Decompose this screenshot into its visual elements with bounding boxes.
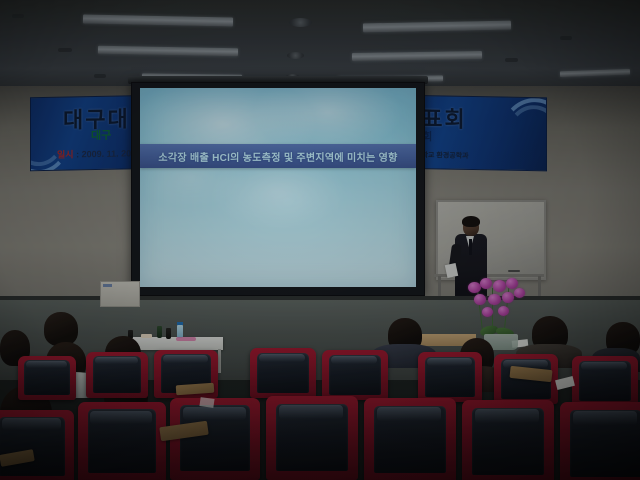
projection-screen-frame: 소각장 배출 HCl의 농도측정 및 주변지역에 미치는 영향 [131, 82, 425, 296]
ceiling-light-fixture [352, 51, 482, 61]
banner-date-colon: : [74, 149, 82, 159]
auditorium-seat [170, 398, 260, 480]
orchid-flower [506, 278, 518, 289]
auditorium-seat [78, 402, 166, 480]
seat-highlight [95, 357, 138, 364]
projection-screen-surface: 소각장 배출 HCl의 농도측정 및 주변지역에 미치는 영향 [140, 88, 416, 287]
radiator-badge [103, 284, 112, 287]
seat-highlight [475, 409, 539, 422]
ceiling-speaker-icon [560, 36, 572, 40]
seat-highlight [331, 356, 377, 364]
orchid-flower [474, 294, 486, 305]
auditorium-seat [86, 352, 148, 398]
presenter-paper [445, 263, 458, 278]
seat-highlight [2, 418, 61, 430]
auditorium-seat [18, 356, 76, 400]
seat-highlight [90, 411, 152, 424]
orchid-flower [480, 278, 492, 289]
audience-head [44, 312, 78, 346]
wall-radiator [100, 281, 140, 307]
beverage-can [166, 328, 171, 339]
ceiling-light-fixture [560, 69, 630, 77]
beverage-bottle [157, 326, 162, 338]
orchid-flower [502, 292, 514, 303]
banner-date-label: 일시 [57, 149, 74, 159]
auditorium-seat [418, 352, 482, 402]
auditorium-seat [560, 402, 640, 480]
seat-highlight [26, 361, 67, 368]
auditorium-seat [462, 400, 554, 480]
ceiling-vent-icon [289, 18, 312, 27]
ceiling-light-fixture [83, 14, 233, 26]
ceiling-speaker-icon [94, 74, 106, 78]
seat-highlight [377, 407, 441, 420]
ceiling-light-fixture [363, 21, 511, 33]
auditorium-seat [266, 396, 358, 480]
ceiling-light-fixture [98, 46, 238, 56]
presenter-hair [462, 216, 480, 227]
table-leg [218, 349, 221, 373]
seat-highlight [581, 362, 627, 370]
seat-highlight [427, 358, 472, 366]
snack-item [141, 334, 152, 338]
orchid-flower [493, 280, 506, 292]
auditorium-seat [0, 410, 74, 480]
orchid-flower [514, 288, 525, 298]
audience-member [44, 312, 78, 346]
seat-highlight [183, 407, 246, 420]
seat-highlight [573, 411, 637, 424]
photo-scene: 대구대 대구 일시 : 2009. 11. 20(금) 발표회 발표회 : 대구… [0, 0, 640, 480]
orchid-flower [482, 307, 493, 317]
presenter-tie [469, 239, 472, 255]
auditorium-seat [322, 350, 388, 400]
ceiling-speaker-icon [58, 48, 72, 52]
whiteboard-marker [508, 270, 520, 272]
auditorium-seat [250, 348, 316, 398]
ceiling-speaker-icon [505, 58, 518, 62]
orchid-flower [488, 294, 501, 305]
audience-handout [199, 397, 214, 408]
orchid-flower [498, 306, 509, 316]
bottle-cap [177, 322, 183, 325]
seat-highlight [259, 354, 305, 362]
ceiling-speaker-icon [12, 14, 24, 18]
auditorium-seat [572, 356, 638, 406]
banner-left-subtitle: 대구 [91, 127, 111, 143]
seat-highlight [163, 355, 208, 363]
ceiling-vent-icon [287, 52, 304, 59]
slide-title-bar: 소각장 배출 HCl의 농도측정 및 주변지역에 미치는 영향 [140, 144, 416, 168]
pink-cloth [176, 337, 196, 341]
slide-title-text: 소각장 배출 HCl의 농도측정 및 주변지역에 미치는 영향 [158, 149, 397, 164]
auditorium-seat [364, 398, 456, 480]
seat-highlight [279, 405, 343, 418]
